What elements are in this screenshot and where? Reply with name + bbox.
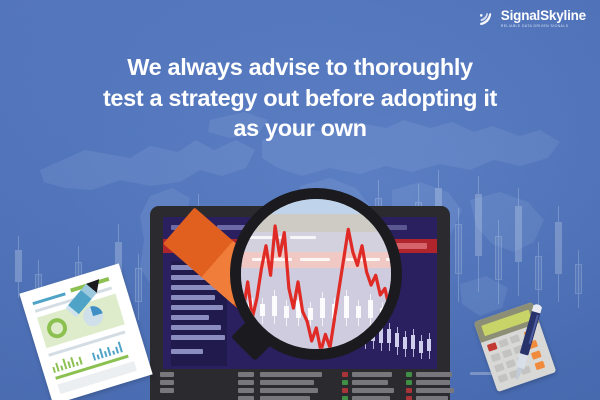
banner-stage: SignalSkyline Reliable Data Driven Signa… [0,0,600,400]
headline-line-1: We always advise to thoroughly [50,52,550,83]
brand-name: SignalSkyline [501,9,586,23]
headline-line-3: as your own [50,113,550,144]
magnifying-glass [222,180,402,370]
table-row [160,388,440,394]
headline-line-2: test a strategy out before adopting it [50,83,550,114]
magnifier-lens [230,188,402,360]
table-row [160,396,440,400]
signal-swoosh-icon [477,9,496,28]
table-row [160,380,440,386]
table-row [160,372,440,378]
brand-tagline: Reliable Data Driven Signals [501,25,586,28]
lens-line-chart [230,188,402,360]
headline: We always advise to thoroughly test a st… [50,52,550,144]
screen-quote-table [150,369,450,400]
brand-logo[interactable]: SignalSkyline Reliable Data Driven Signa… [477,9,586,28]
